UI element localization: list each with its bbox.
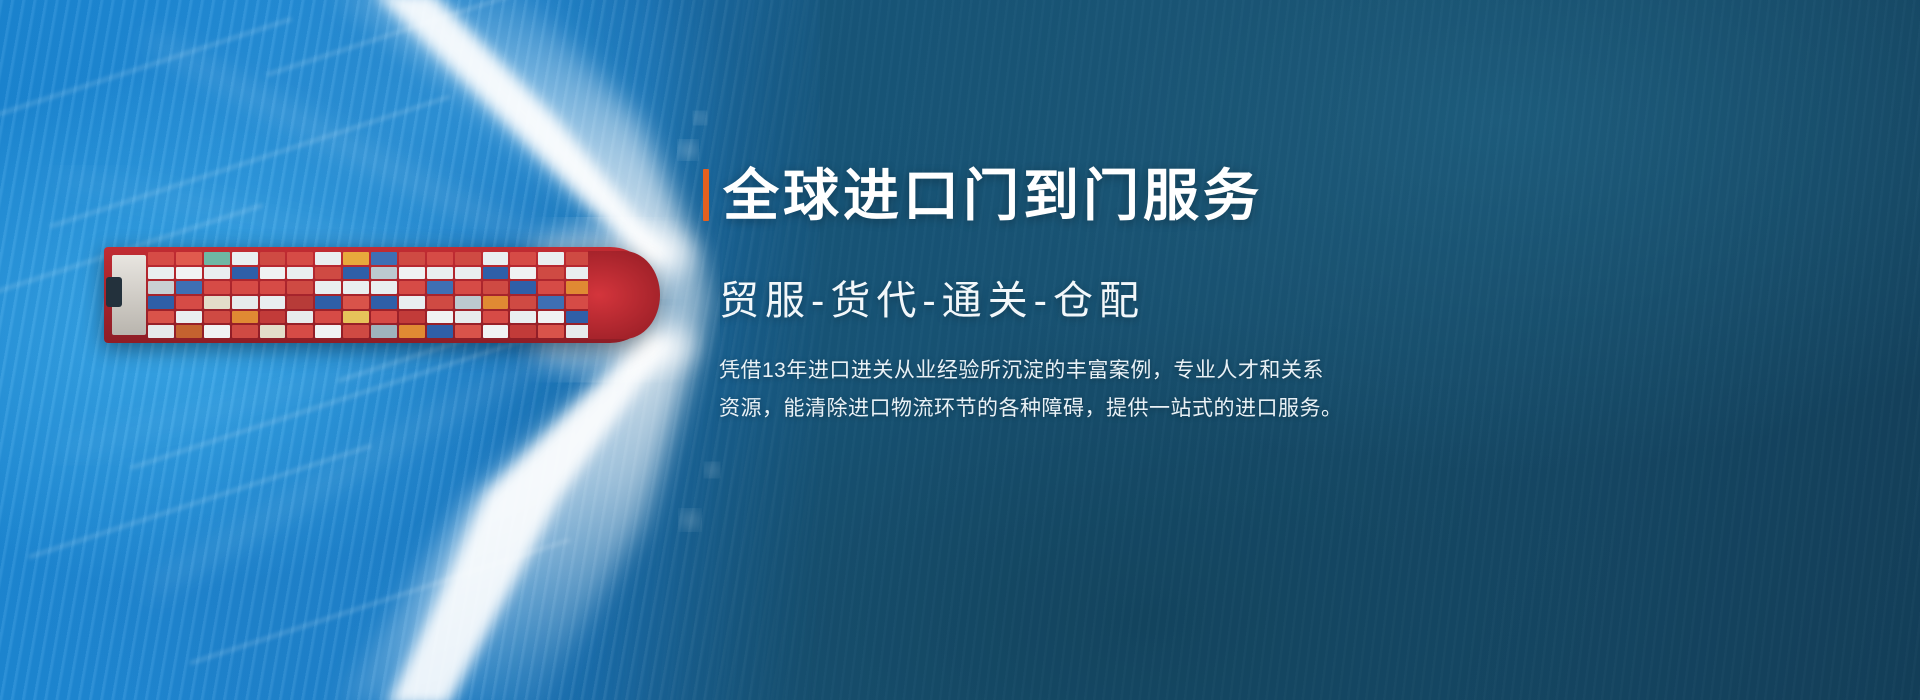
banner-copy: 全球进口门到门服务 贸服-货代-通关-仓配 凭借13年进口进关从业经验所沉淀的丰… bbox=[703, 166, 1463, 427]
container-bay bbox=[204, 252, 230, 338]
container-box bbox=[455, 296, 481, 309]
container-ship bbox=[104, 247, 656, 343]
container-box bbox=[399, 296, 425, 309]
container-bay bbox=[538, 252, 564, 338]
container-box bbox=[232, 325, 258, 338]
accent-bar bbox=[703, 169, 709, 221]
container-box bbox=[148, 296, 174, 309]
container-box bbox=[232, 267, 258, 280]
container-box bbox=[427, 281, 453, 294]
container-box bbox=[483, 325, 509, 338]
container-box bbox=[315, 281, 341, 294]
container-box bbox=[260, 281, 286, 294]
container-box bbox=[483, 296, 509, 309]
container-bay bbox=[371, 252, 397, 338]
container-box bbox=[232, 311, 258, 324]
container-box bbox=[427, 311, 453, 324]
container-box bbox=[371, 325, 397, 338]
container-box bbox=[371, 281, 397, 294]
container-bay bbox=[510, 252, 536, 338]
container-bay bbox=[148, 252, 174, 338]
container-box bbox=[455, 281, 481, 294]
container-box bbox=[176, 325, 202, 338]
container-box bbox=[176, 281, 202, 294]
container-box bbox=[315, 267, 341, 280]
hero-banner: 全球进口门到门服务 贸服-货代-通关-仓配 凭借13年进口进关从业经验所沉淀的丰… bbox=[0, 0, 1920, 700]
description: 凭借13年进口进关从业经验所沉淀的丰富案例，专业人才和关系 资源，能清除进口物流… bbox=[719, 352, 1419, 427]
container-box bbox=[371, 267, 397, 280]
container-bay bbox=[315, 252, 341, 338]
container-bay bbox=[343, 252, 369, 338]
container-box bbox=[232, 252, 258, 265]
container-box bbox=[371, 296, 397, 309]
container-bay bbox=[399, 252, 425, 338]
container-box bbox=[399, 311, 425, 324]
container-box bbox=[510, 325, 536, 338]
container-box bbox=[287, 252, 313, 265]
container-box bbox=[148, 325, 174, 338]
container-bay bbox=[427, 252, 453, 338]
container-box bbox=[483, 267, 509, 280]
container-bay bbox=[260, 252, 286, 338]
container-box bbox=[287, 296, 313, 309]
container-bay bbox=[455, 252, 481, 338]
container-box bbox=[427, 267, 453, 280]
ship-bow bbox=[588, 251, 660, 339]
container-box bbox=[287, 311, 313, 324]
container-box bbox=[510, 296, 536, 309]
container-box bbox=[455, 325, 481, 338]
container-box bbox=[315, 252, 341, 265]
container-box bbox=[538, 281, 564, 294]
container-box bbox=[260, 252, 286, 265]
container-box bbox=[427, 296, 453, 309]
container-box bbox=[315, 311, 341, 324]
container-box bbox=[399, 325, 425, 338]
container-box bbox=[371, 311, 397, 324]
container-box bbox=[510, 311, 536, 324]
container-box bbox=[204, 325, 230, 338]
container-box bbox=[287, 267, 313, 280]
container-box bbox=[343, 296, 369, 309]
container-box bbox=[343, 267, 369, 280]
container-bay bbox=[287, 252, 313, 338]
container-box bbox=[343, 311, 369, 324]
container-box bbox=[455, 252, 481, 265]
container-box bbox=[399, 267, 425, 280]
container-box bbox=[343, 281, 369, 294]
container-box bbox=[315, 296, 341, 309]
container-box bbox=[148, 252, 174, 265]
container-box bbox=[510, 252, 536, 265]
container-bay bbox=[483, 252, 509, 338]
container-box bbox=[371, 252, 397, 265]
container-box bbox=[538, 267, 564, 280]
container-box bbox=[260, 296, 286, 309]
container-box bbox=[510, 281, 536, 294]
ship-stern-deck bbox=[106, 277, 122, 307]
container-box bbox=[343, 252, 369, 265]
container-box bbox=[287, 281, 313, 294]
container-box bbox=[176, 267, 202, 280]
page-title: 全球进口门到门服务 bbox=[723, 166, 1263, 226]
container-box bbox=[260, 267, 286, 280]
description-line-1: 凭借13年进口进关从业经验所沉淀的丰富案例，专业人才和关系 bbox=[719, 352, 1419, 389]
container-box bbox=[483, 281, 509, 294]
container-box bbox=[399, 281, 425, 294]
container-box bbox=[148, 311, 174, 324]
container-box bbox=[148, 281, 174, 294]
container-box bbox=[204, 281, 230, 294]
description-line-2: 资源，能清除进口物流环节的各种障碍，提供一站式的进口服务。 bbox=[719, 390, 1419, 427]
container-box bbox=[455, 311, 481, 324]
container-box bbox=[538, 296, 564, 309]
container-box bbox=[204, 296, 230, 309]
container-box bbox=[455, 267, 481, 280]
container-box bbox=[260, 311, 286, 324]
container-box bbox=[538, 252, 564, 265]
container-box bbox=[538, 325, 564, 338]
container-box bbox=[204, 252, 230, 265]
container-box bbox=[427, 252, 453, 265]
container-box bbox=[204, 311, 230, 324]
container-box bbox=[232, 281, 258, 294]
container-box bbox=[483, 311, 509, 324]
container-box bbox=[148, 267, 174, 280]
container-box bbox=[510, 267, 536, 280]
container-box bbox=[176, 252, 202, 265]
container-box bbox=[315, 325, 341, 338]
container-box bbox=[399, 252, 425, 265]
container-box bbox=[343, 325, 369, 338]
subtitle: 贸服-货代-通关-仓配 bbox=[719, 268, 1463, 326]
container-box bbox=[260, 325, 286, 338]
container-box bbox=[427, 325, 453, 338]
container-box bbox=[176, 311, 202, 324]
container-box bbox=[176, 296, 202, 309]
water-glare-overlay bbox=[0, 0, 820, 700]
container-box bbox=[483, 252, 509, 265]
container-stacks bbox=[148, 252, 592, 338]
container-box bbox=[232, 296, 258, 309]
headline-row: 全球进口门到门服务 bbox=[703, 166, 1463, 226]
container-bay bbox=[176, 252, 202, 338]
container-box bbox=[204, 267, 230, 280]
container-box bbox=[538, 311, 564, 324]
container-bay bbox=[232, 252, 258, 338]
container-box bbox=[287, 325, 313, 338]
